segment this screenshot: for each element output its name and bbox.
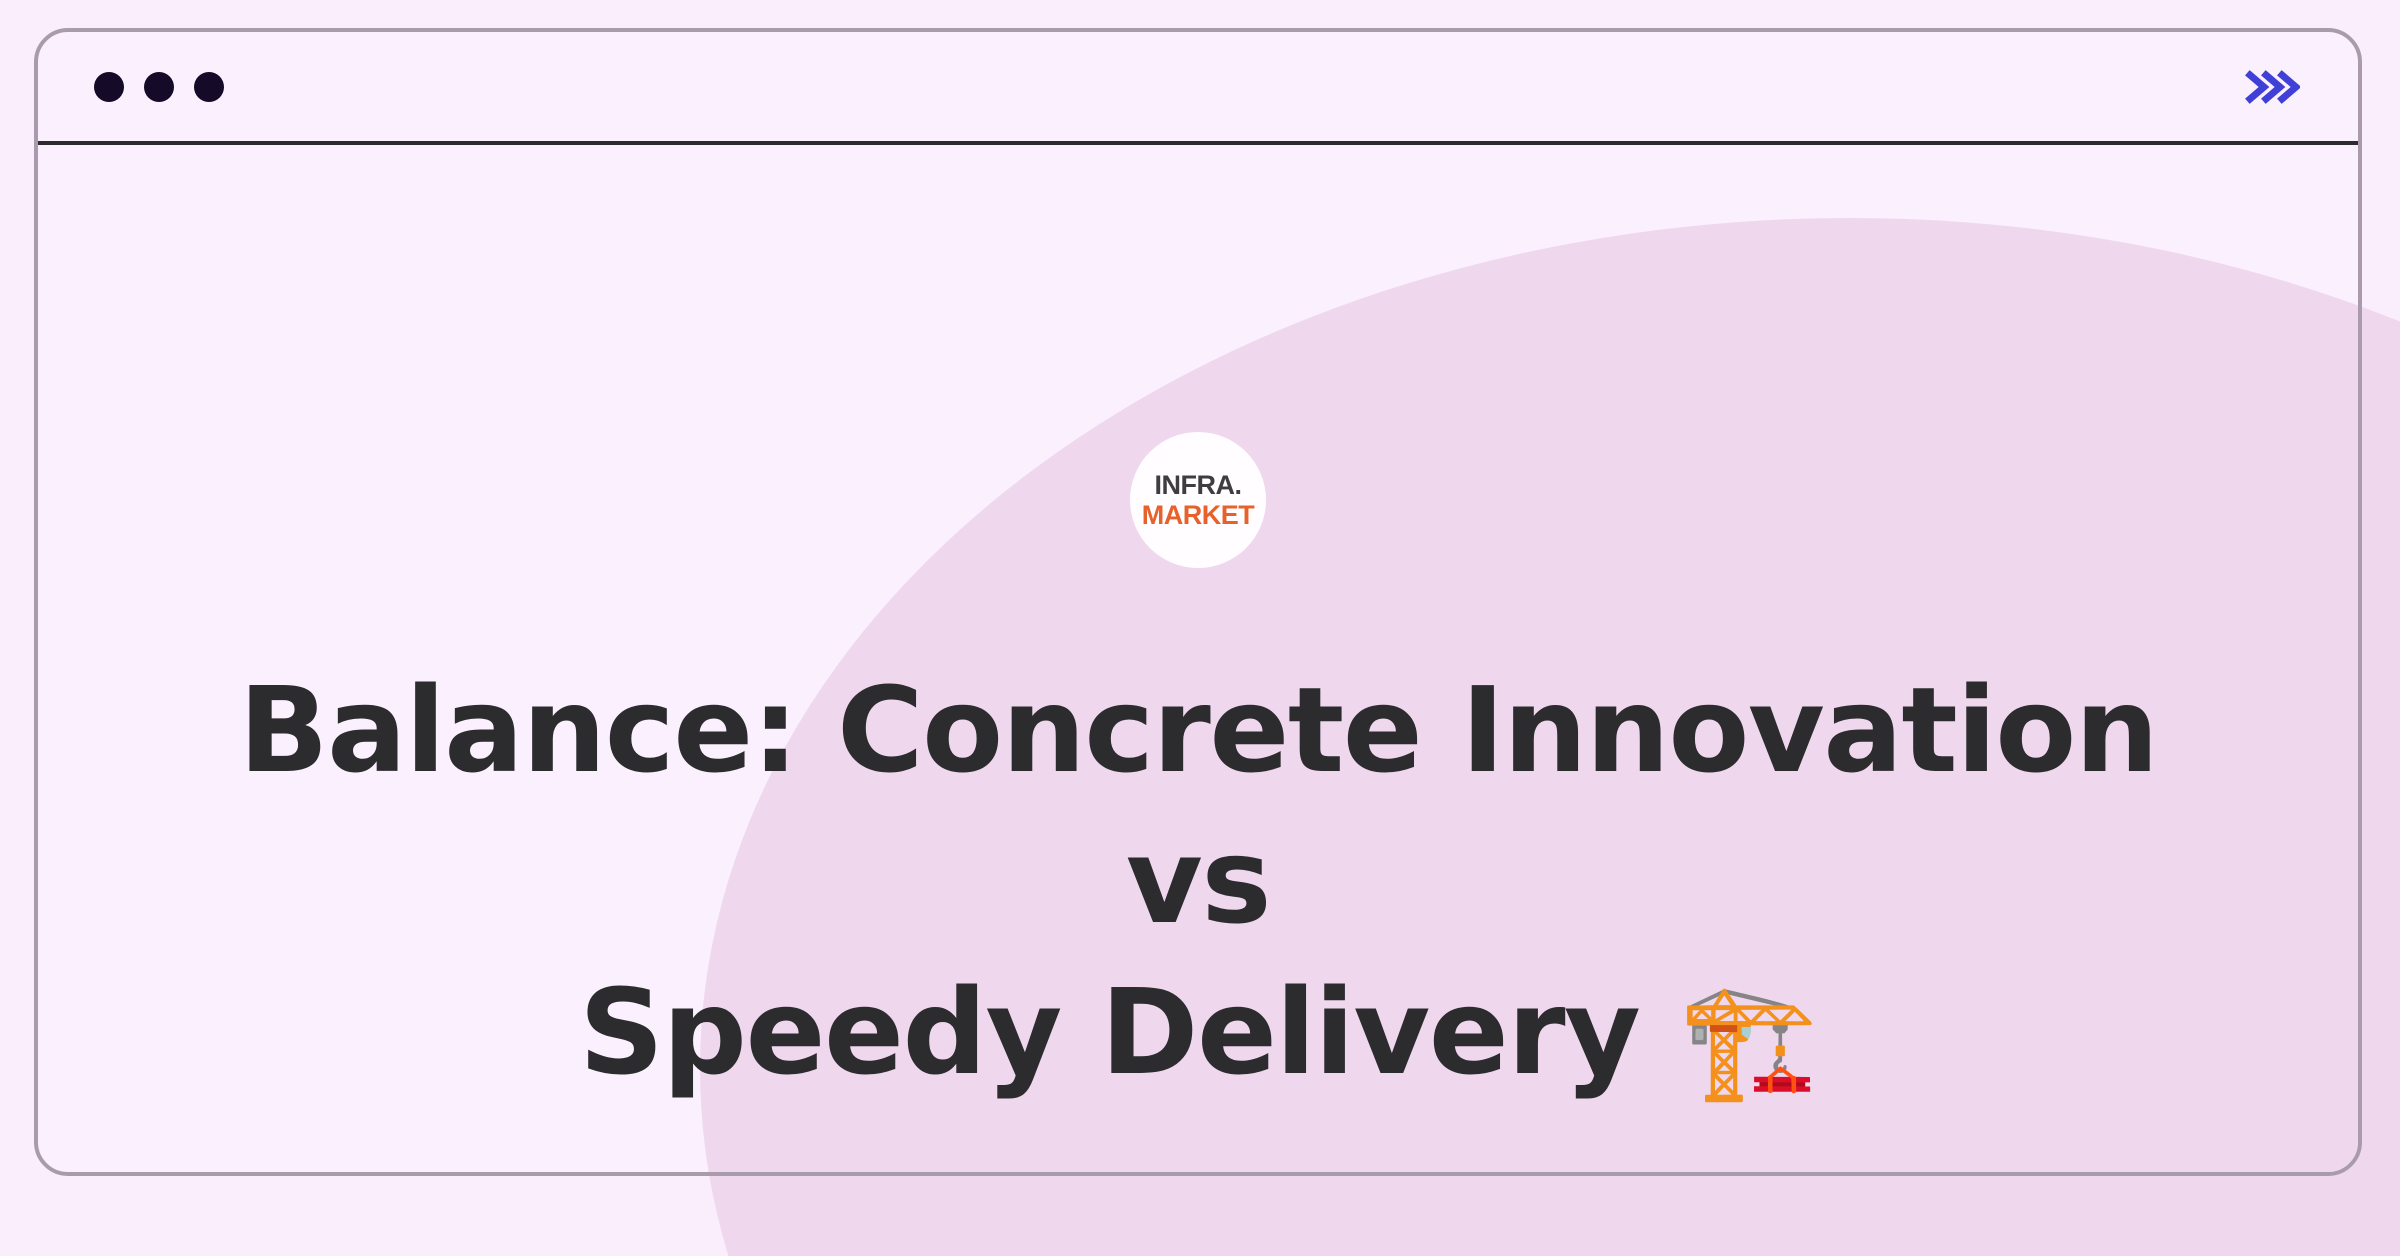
construction-crane-icon: 🏗️: [1679, 976, 1817, 1106]
browser-window: INFRA. MARKET Balance: Concrete Innovati…: [34, 28, 2362, 1176]
maximize-dot-icon[interactable]: [194, 72, 224, 102]
logo-text-infra: INFRA.: [1155, 472, 1242, 499]
slide-headline: Balance: Concrete Innovation vs Speedy D…: [38, 655, 2358, 1113]
headline-line-2: Speedy Delivery: [579, 963, 1639, 1101]
slide-content: INFRA. MARKET Balance: Concrete Innovati…: [38, 145, 2358, 1172]
brand-logo-badge: INFRA. MARKET: [1130, 432, 1266, 568]
page-canvas: INFRA. MARKET Balance: Concrete Innovati…: [0, 0, 2400, 1256]
window-controls: [94, 72, 224, 102]
browser-titlebar: [38, 32, 2358, 145]
logo-text-market: MARKET: [1142, 502, 1255, 529]
headline-line-1: Balance: Concrete Innovation vs: [239, 661, 2158, 950]
minimize-dot-icon[interactable]: [144, 72, 174, 102]
close-dot-icon[interactable]: [94, 72, 124, 102]
triple-chevron-right-icon[interactable]: [2244, 67, 2300, 107]
